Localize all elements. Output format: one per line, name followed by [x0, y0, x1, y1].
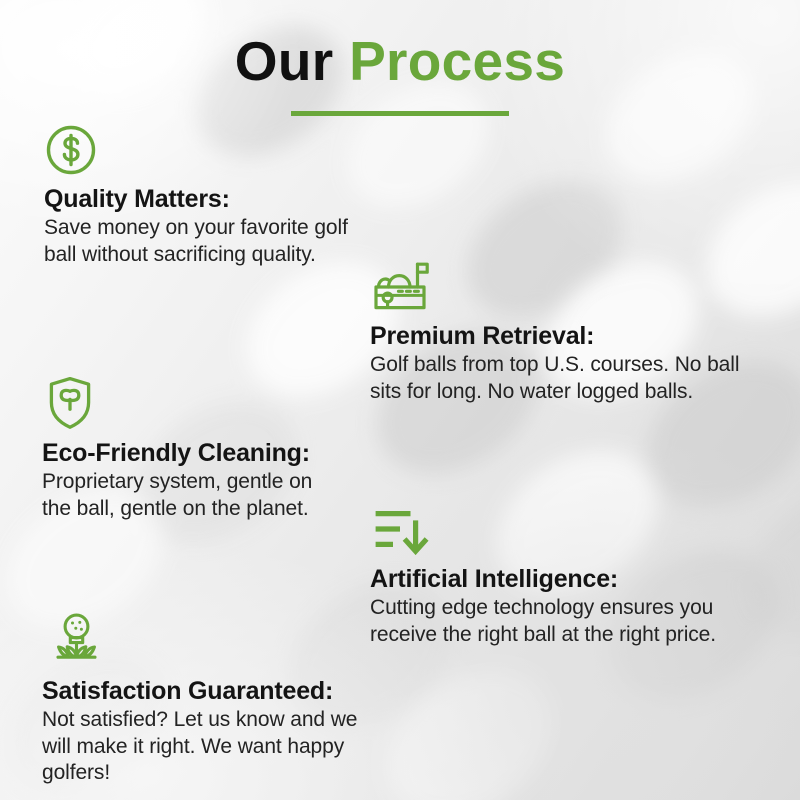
shield-leaf-icon — [47, 376, 372, 430]
feature-heading: Quality Matters: — [44, 185, 394, 214]
title-underline-rule — [291, 111, 509, 116]
feature-heading: Artificial Intelligence: — [370, 565, 770, 594]
feature-body-line-1: Save money on your favorite golf — [44, 215, 394, 242]
page-title: Our Process — [0, 34, 800, 89]
feature-block-ai: Artificial Intelligence: Cutting edge te… — [370, 508, 770, 648]
golf-ball-tee-grass-icon — [49, 612, 392, 668]
feature-block-eco: Eco-Friendly Cleaning: Proprietary syste… — [42, 376, 372, 522]
feature-heading: Premium Retrieval: — [370, 322, 780, 351]
dollar-circle-icon — [45, 124, 394, 176]
feature-body-line-1: Proprietary system, gentle on — [42, 469, 372, 496]
poster-header: Our Process — [0, 34, 800, 116]
feature-body-line-1: Golf balls from top U.S. courses. No bal… — [370, 352, 780, 379]
feature-body-line-1: Cutting edge technology ensures you — [370, 595, 770, 622]
sort-descending-arrow-icon — [373, 508, 770, 556]
feature-body-line-2: ball without sacrificing quality. — [44, 242, 394, 269]
feature-block-satisfaction: Satisfaction Guaranteed: Not satisfied? … — [42, 612, 392, 787]
feature-block-retrieval: Premium Retrieval: Golf balls from top U… — [370, 261, 780, 405]
golf-green-flag-icon — [372, 261, 780, 313]
feature-block-quality: Quality Matters: Save money on your favo… — [44, 124, 394, 268]
feature-heading: Satisfaction Guaranteed: — [42, 677, 392, 706]
feature-body-line-2: will make it right. We want happy — [42, 734, 392, 761]
feature-heading: Eco-Friendly Cleaning: — [42, 439, 372, 468]
feature-body-line-3: golfers! — [42, 760, 392, 787]
feature-body-line-1: Not satisfied? Let us know and we — [42, 707, 392, 734]
poster-canvas: Our Process Quality Matters: Save money … — [0, 0, 800, 800]
page-title-word-2: Process — [349, 30, 565, 92]
feature-body-line-2: receive the right ball at the right pric… — [370, 622, 770, 649]
feature-body-line-2: sits for long. No water logged balls. — [370, 379, 780, 406]
feature-body-line-2: the ball, gentle on the planet. — [42, 496, 372, 523]
page-title-word-1: Our — [235, 30, 334, 92]
